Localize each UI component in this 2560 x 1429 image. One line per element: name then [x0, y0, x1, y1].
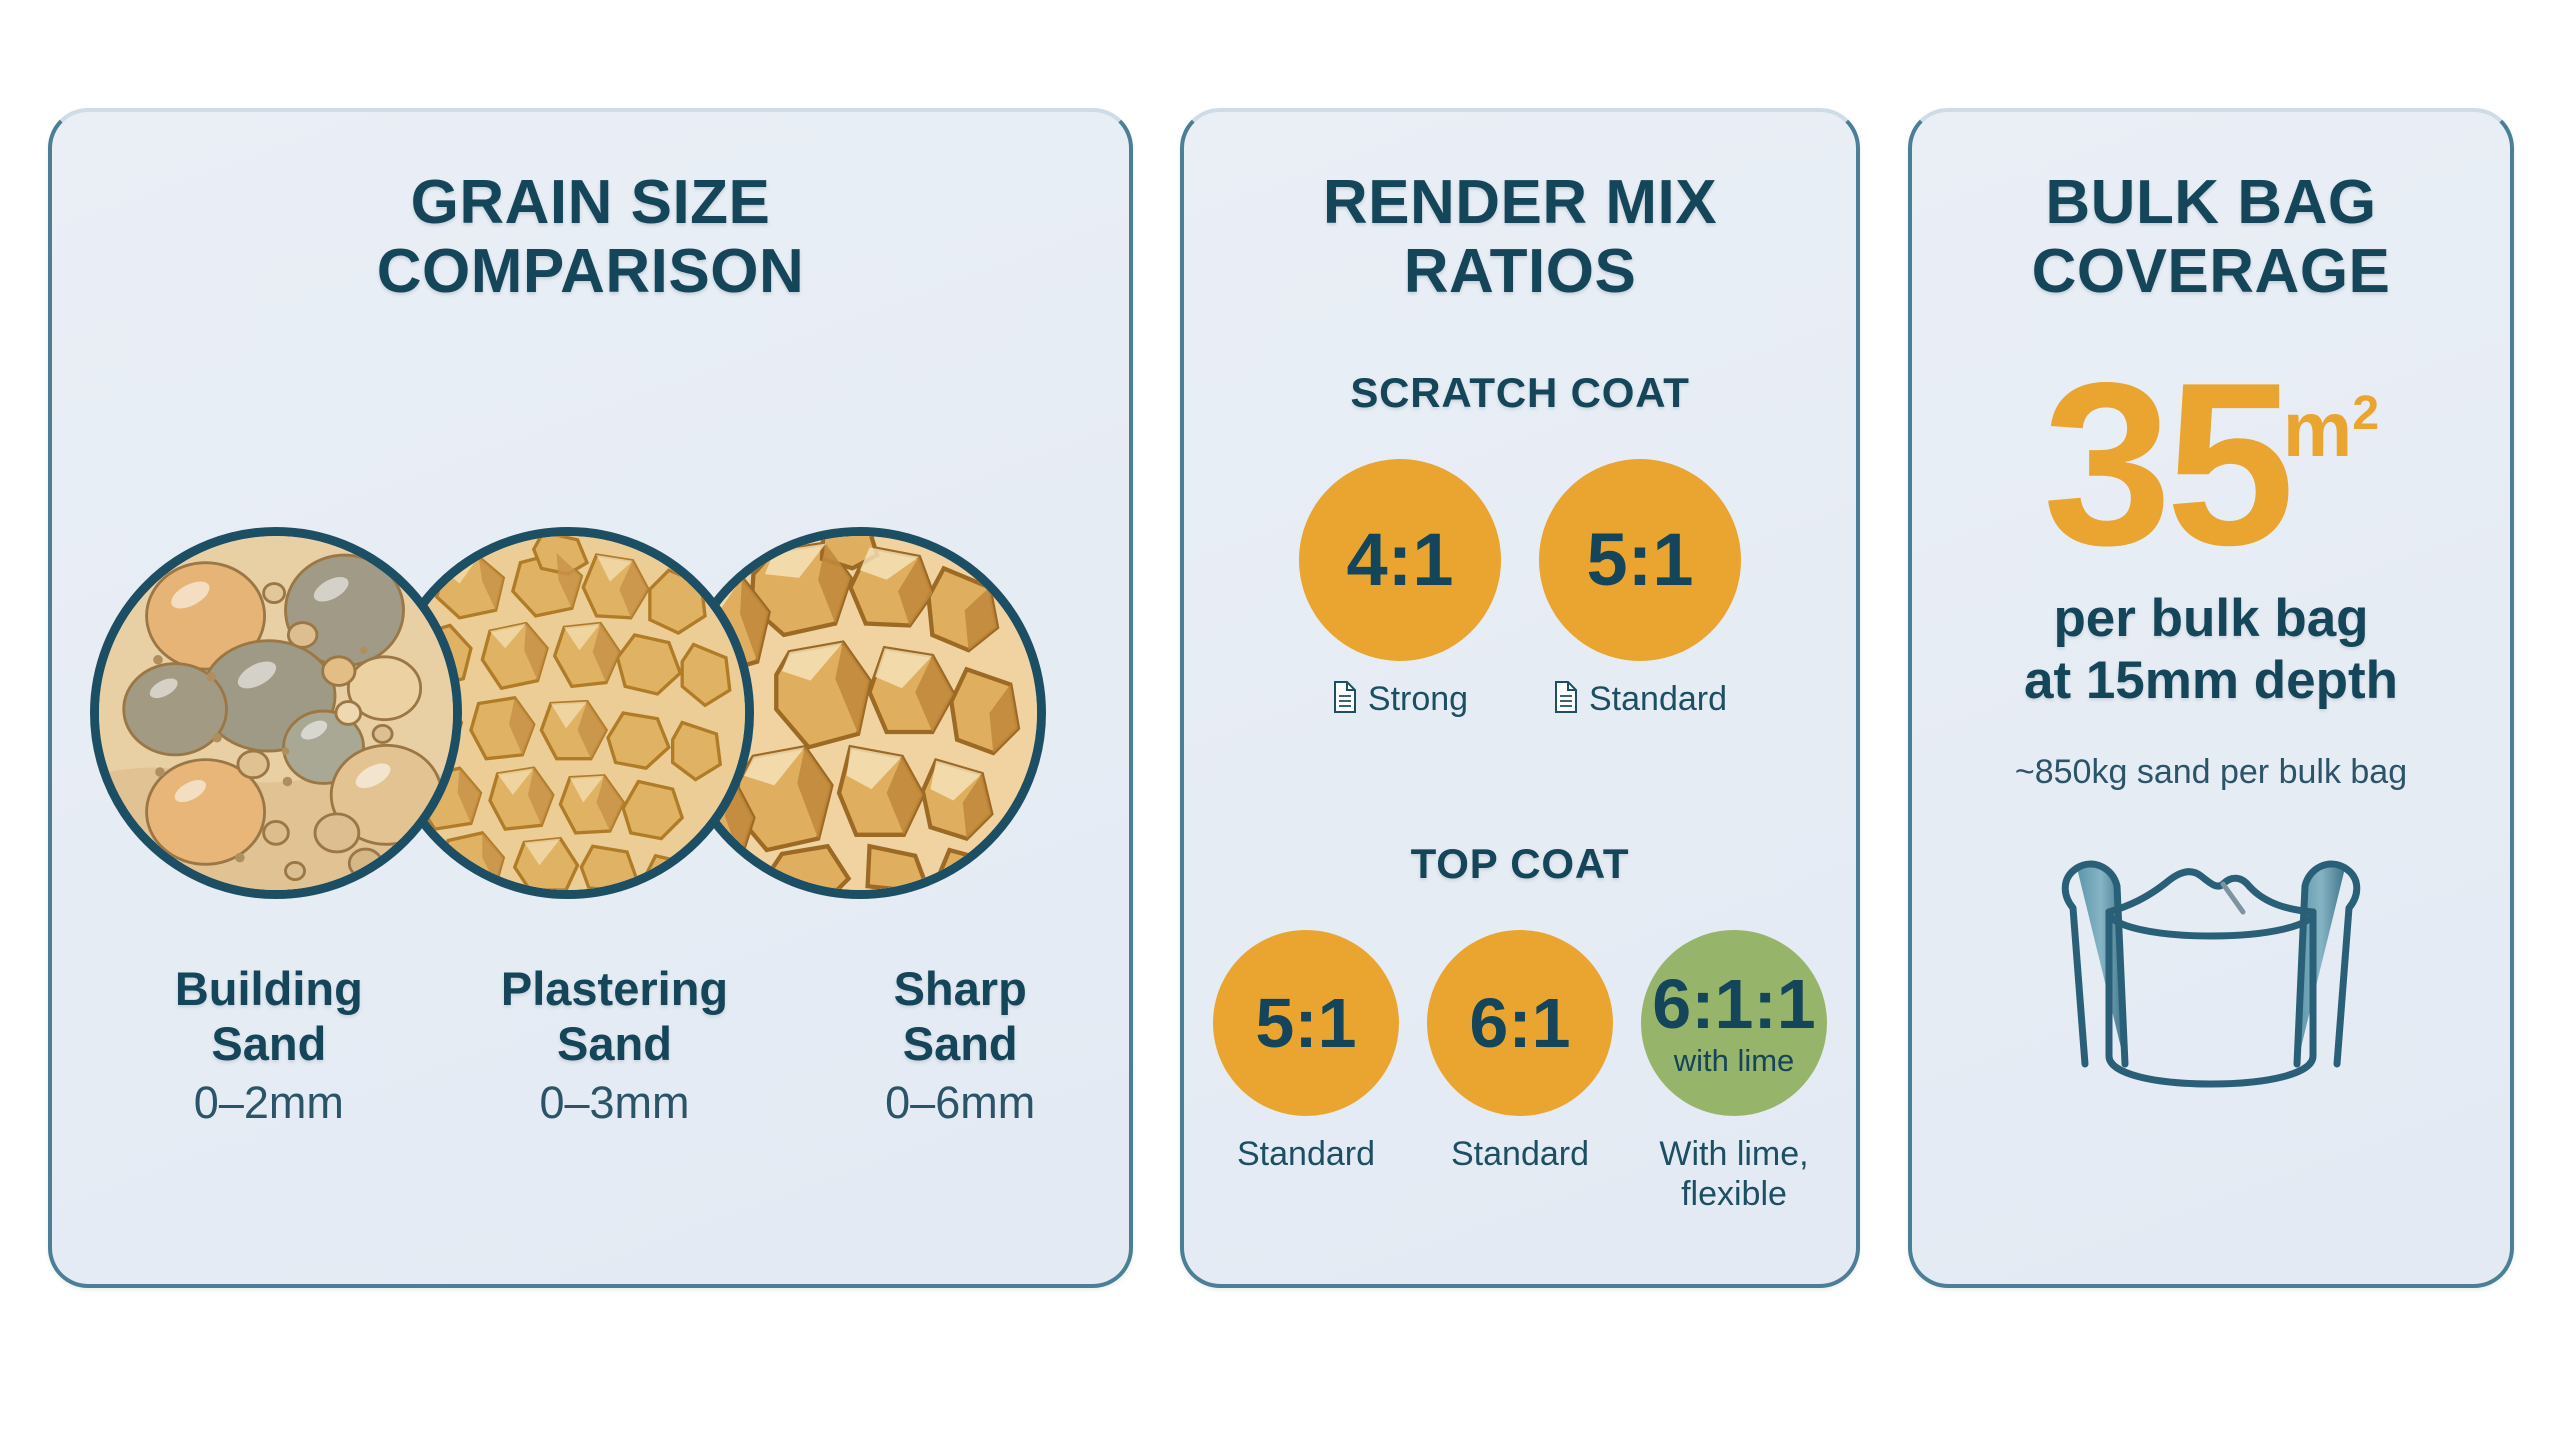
ratio-caption: With lime, flexible — [1634, 1134, 1834, 1214]
grain-name-line-1: Sharp — [894, 962, 1027, 1015]
grain-title-line-1: GRAIN SIZE — [411, 168, 771, 237]
grain-label-plastering-sand: Plastering Sand 0–3mm — [446, 962, 784, 1129]
bulk-bag-illustration — [1912, 820, 2510, 1100]
card-bulk-bag-coverage: BULK BAG COVERAGE 35 m2 per bulk bag at … — [1908, 108, 2514, 1288]
document-icon — [1332, 681, 1358, 722]
ratios-title-line-1: RENDER MIX — [1323, 168, 1717, 237]
coverage-subtitle-line-2: at 15mm depth — [2024, 651, 2398, 710]
ratio-value: 5:1 — [1587, 523, 1694, 597]
grain-label-building-sand: Building Sand 0–2mm — [100, 962, 438, 1129]
grain-card-title: GRAIN SIZE COMPARISON — [52, 168, 1129, 307]
grain-circles-row — [52, 527, 1129, 907]
coverage-subtitle: per bulk bag at 15mm depth — [1912, 588, 2510, 713]
ratio-bubble[interactable]: 4:1 — [1299, 459, 1501, 661]
coverage-unit-base: m — [2283, 385, 2352, 473]
ratio-value: 5:1 — [1255, 988, 1356, 1058]
ratios-card-title: RENDER MIX RATIOS — [1184, 168, 1856, 307]
grain-name-line-2: Sand — [903, 1017, 1018, 1070]
ratio-item-top-5-1[interactable]: 5:1 Standard — [1206, 930, 1406, 1174]
ratio-caption-text: Strong — [1368, 679, 1468, 719]
coverage-note: ~850kg sand per bulk bag — [1912, 753, 2510, 792]
document-icon — [1553, 681, 1579, 722]
grain-name-line-1: Plastering — [501, 962, 728, 1015]
bulk-title-line-2: COVERAGE — [2032, 237, 2391, 306]
top-coat-ratio-row: 5:1 Standard 6:1 Standard 6:1:1 with lim… — [1184, 930, 1856, 1214]
card-render-mix-ratios: RENDER MIX RATIOS SCRATCH COAT 4:1 — [1180, 108, 1860, 1288]
sand-circle-icon-building — [90, 527, 462, 899]
ratio-caption: Strong — [1332, 679, 1468, 722]
ratio-item-top-6-1[interactable]: 6:1 Standard — [1420, 930, 1620, 1174]
card-grain-size: GRAIN SIZE COMPARISON — [48, 108, 1133, 1288]
ratio-value: 4:1 — [1347, 523, 1454, 597]
ratio-value: 6:1 — [1469, 988, 1570, 1058]
ratio-subtext: with lime — [1674, 1045, 1795, 1076]
coverage-unit-exponent: 2 — [2352, 386, 2379, 440]
section-heading-scratch-coat: SCRATCH COAT — [1184, 369, 1856, 417]
scratch-coat-ratio-row: 4:1 Strong 5:1 — [1184, 459, 1856, 722]
ratio-caption: Standard — [1553, 679, 1727, 722]
sand-texture-rounded-blobs — [99, 536, 453, 890]
coverage-figure: 35 m2 — [1912, 358, 2510, 571]
bulk-bag-icon — [2051, 820, 2371, 1100]
ratio-item-top-6-1-1-lime[interactable]: 6:1:1 with lime With lime, flexible — [1634, 930, 1834, 1214]
ratio-bubble[interactable]: 5:1 — [1539, 459, 1741, 661]
infographic-canvas: GRAIN SIZE COMPARISON — [0, 0, 2560, 1429]
grain-name-line-1: Building — [175, 962, 363, 1015]
ratio-value: 6:1:1 — [1652, 969, 1815, 1039]
ratio-item-scratch-4-1[interactable]: 4:1 Strong — [1299, 459, 1501, 722]
ratio-caption: Standard — [1206, 1134, 1406, 1174]
grain-size-value: 0–6mm — [791, 1077, 1129, 1129]
ratio-caption-text: Standard — [1589, 679, 1727, 719]
ratios-title-line-2: RATIOS — [1404, 237, 1637, 306]
coverage-unit: m2 — [2283, 384, 2379, 475]
grain-name-line-2: Sand — [557, 1017, 672, 1070]
ratio-bubble[interactable]: 6:1:1 with lime — [1641, 930, 1827, 1116]
grain-size-value: 0–3mm — [446, 1077, 784, 1129]
grain-name-line-2: Sand — [211, 1017, 326, 1070]
ratio-bubble[interactable]: 6:1 — [1427, 930, 1613, 1116]
ratio-item-scratch-5-1[interactable]: 5:1 Standard — [1539, 459, 1741, 722]
grain-title-line-2: COMPARISON — [377, 237, 805, 306]
section-heading-top-coat: TOP COAT — [1184, 840, 1856, 888]
grain-labels-row: Building Sand 0–2mm Plastering Sand 0–3m… — [52, 962, 1129, 1129]
grain-label-sharp-sand: Sharp Sand 0–6mm — [791, 962, 1129, 1129]
coverage-subtitle-line-1: per bulk bag — [2053, 589, 2368, 648]
coverage-value: 35 — [2043, 358, 2289, 571]
ratio-bubble[interactable]: 5:1 — [1213, 930, 1399, 1116]
ratio-caption: Standard — [1420, 1134, 1620, 1174]
grain-size-value: 0–2mm — [100, 1077, 438, 1129]
bulk-title-line-1: BULK BAG — [2045, 168, 2376, 237]
bulk-card-title: BULK BAG COVERAGE — [1912, 168, 2510, 307]
